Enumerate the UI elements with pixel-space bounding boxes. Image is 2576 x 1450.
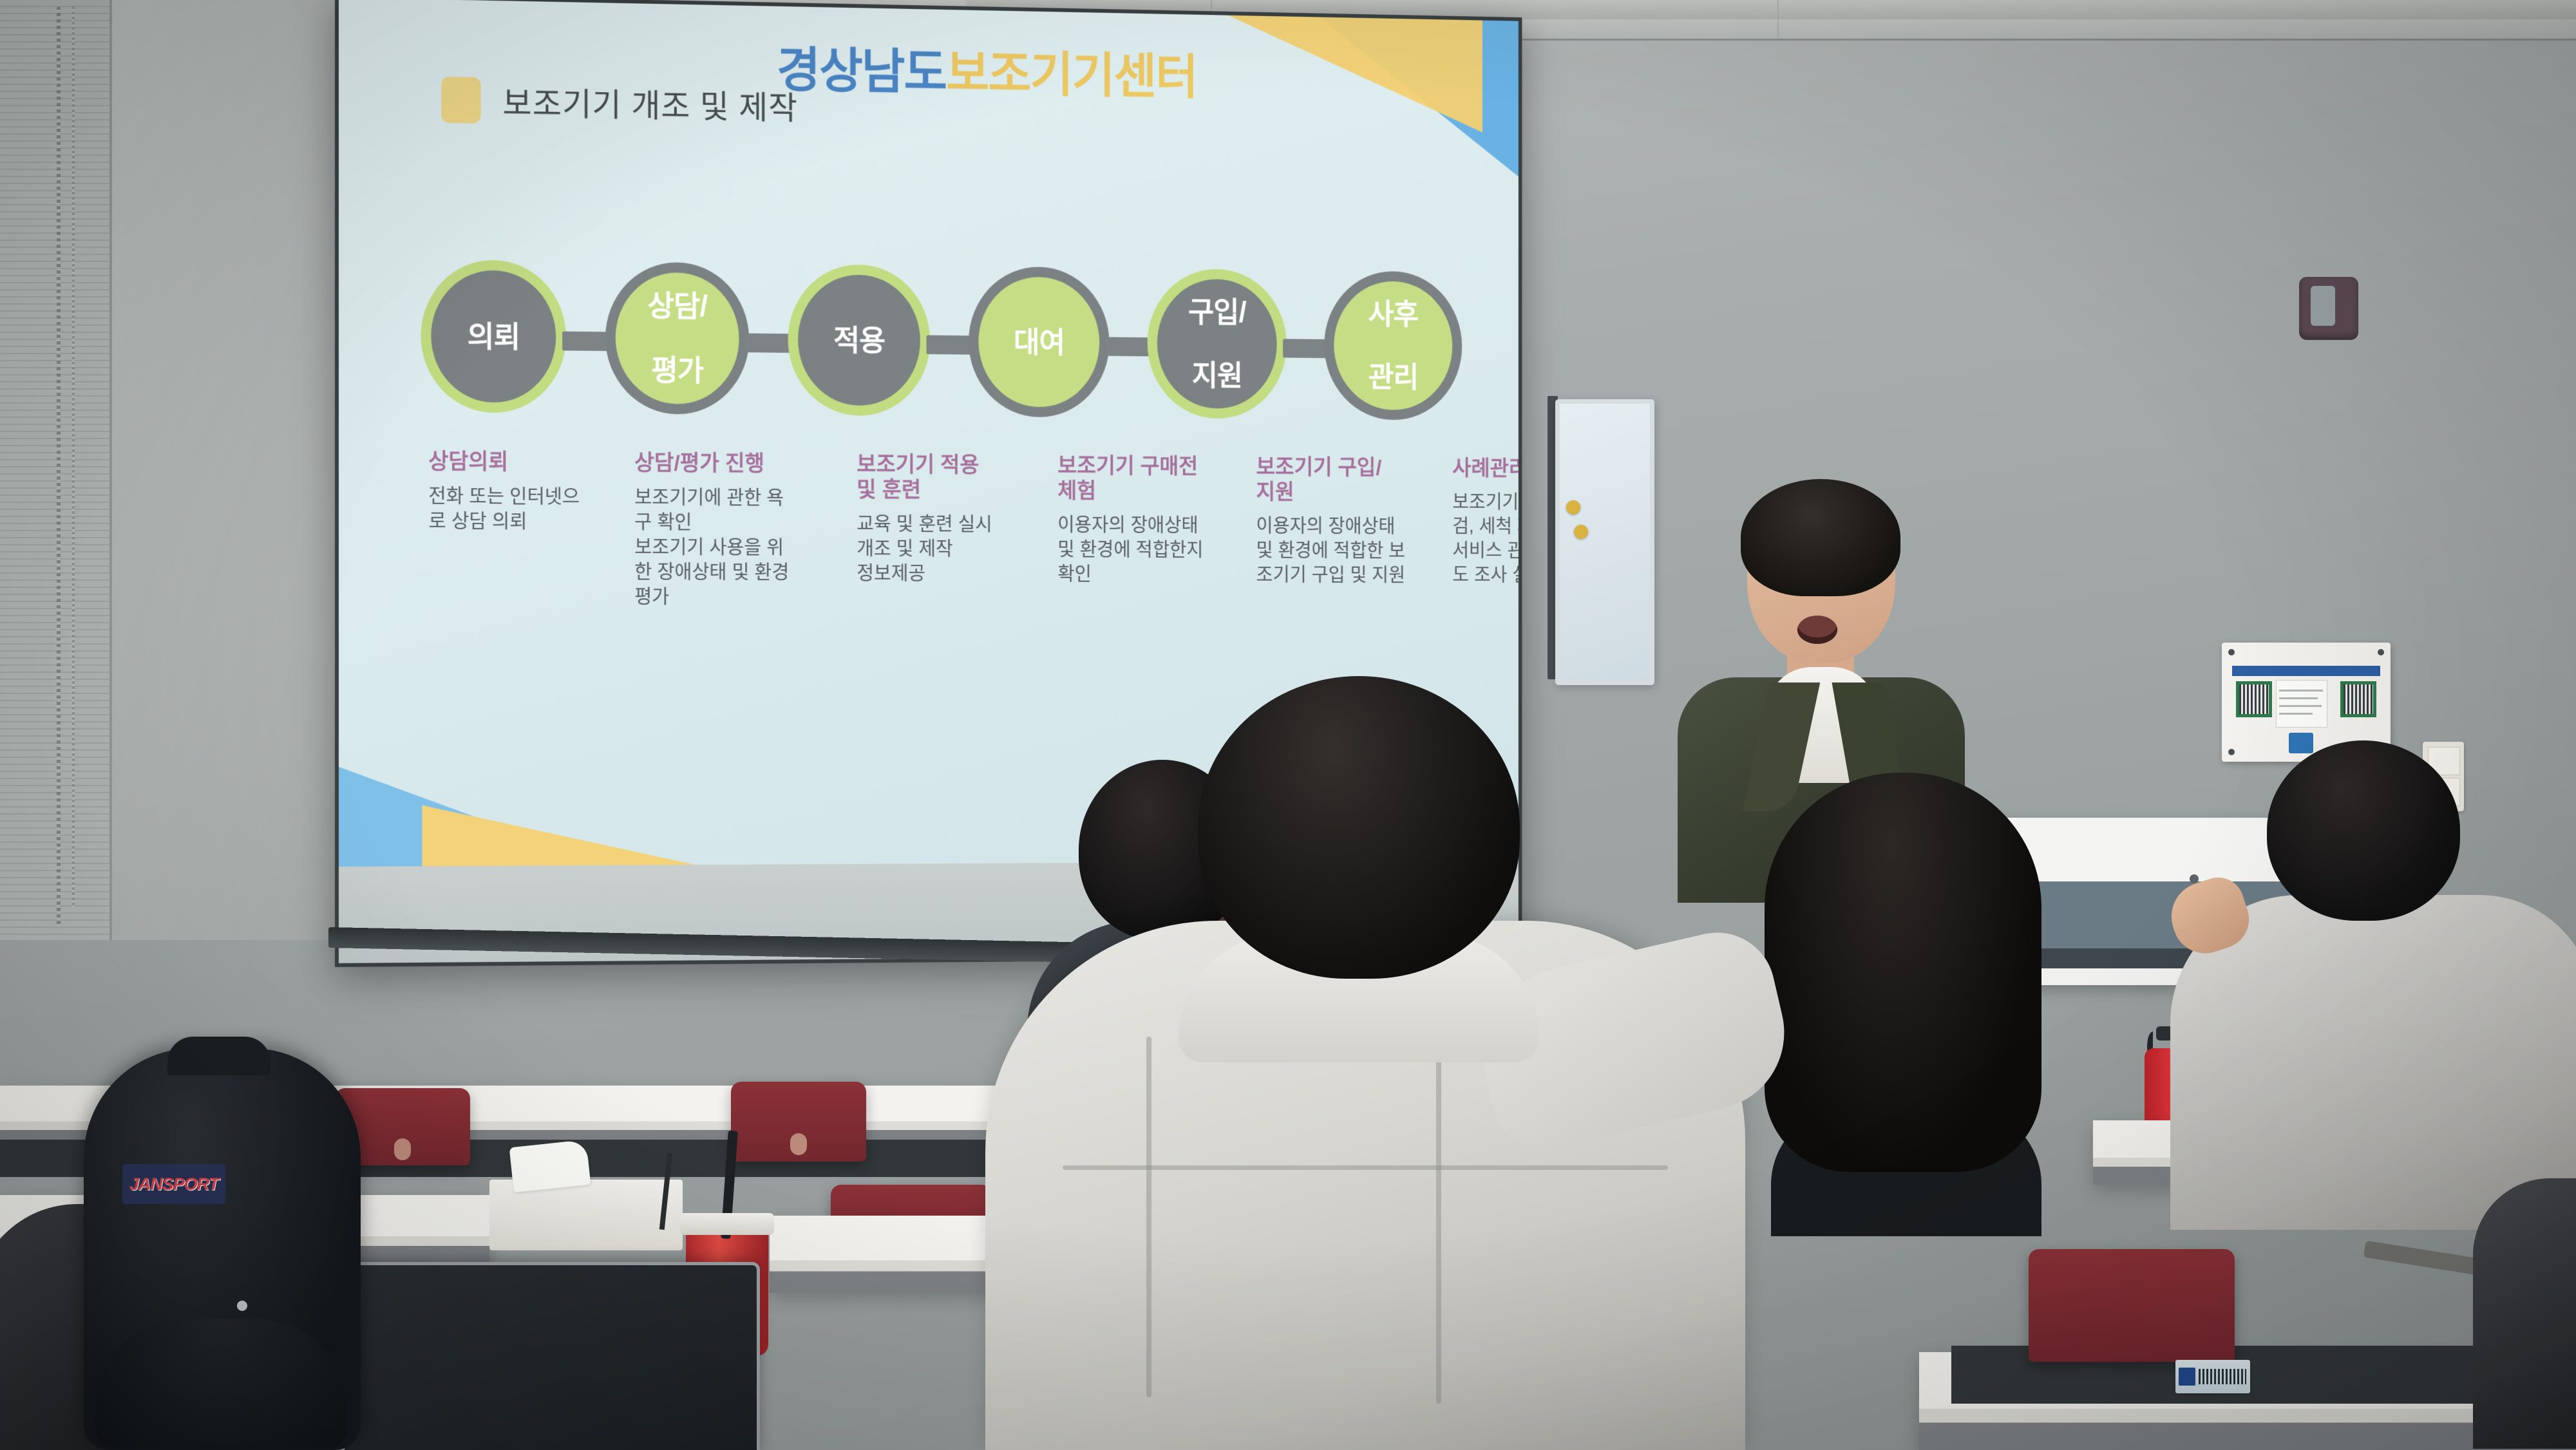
slide-decor-yellow-bottom-left (422, 804, 695, 866)
slide-decor-yellow-top-right (1228, 15, 1482, 133)
screw-icon (2228, 649, 2235, 655)
jacket-seam (1063, 1165, 1668, 1170)
placard-text-line (2279, 713, 2313, 715)
ceiling-tile-joint (1777, 0, 1779, 37)
whiteboard[interactable] (1555, 399, 1654, 685)
description-column-3: 보조기기 적용및 훈련교육 및 훈련 실시개조 및 제작정보제공 (857, 452, 1057, 610)
qr-code-icon (2236, 681, 2272, 717)
description-heading: 상담/평가 진행 (634, 450, 842, 477)
process-descriptions: 상담의뢰전화 또는 인터넷으로 상담 의뢰상담/평가 진행보조기기에 관한 욕구… (428, 449, 1506, 611)
wall-fixture-inner (2311, 286, 2335, 326)
flow-node-label: 의뢰 (468, 320, 520, 353)
chair-handle-hole (790, 1133, 807, 1155)
flow-node-label: 상담/ (648, 290, 707, 323)
description-body: 이용자의 장애상태및 환경에 적합한지확인 (1057, 513, 1242, 587)
jacket-seam (1436, 1056, 1441, 1404)
audience-hair (1765, 773, 2041, 1172)
flow-node-3: 적용 (788, 264, 931, 417)
process-flow-diagram: 의뢰상담/평가적용대여구입/지원사후관리 (421, 259, 1463, 422)
cup-lid[interactable] (680, 1213, 774, 1235)
magnet-icon[interactable] (1566, 500, 1580, 514)
placard-text-line (2279, 705, 2322, 707)
description-column-2: 상담/평가 진행보조기기에 관한 욕구 확인보조기기 사용을 위한 장애상태 및… (634, 450, 857, 610)
backpack[interactable]: JANSPORT (84, 1048, 361, 1450)
description-heading: 보조기기 구매전체험 (1057, 453, 1242, 505)
placard-text-line (2279, 697, 2318, 699)
flow-node-label: 관리 (1368, 361, 1419, 393)
placard-instructions-panel (2276, 680, 2327, 728)
description-body: 보조기기에 관한 욕구 확인보조기기 사용을 위한 장애상태 및 환경평가 (634, 485, 842, 610)
audience-jacket (2473, 1178, 2576, 1449)
blind-cord[interactable] (57, 6, 61, 927)
flow-node-2: 상담/평가 (605, 261, 749, 415)
description-heading: 보조기기 적용및 훈련 (857, 452, 1043, 504)
chair[interactable] (731, 1082, 866, 1162)
placard-header-bar (2232, 666, 2380, 676)
description-body: 전화 또는 인터넷으로 상담 의뢰 (428, 484, 619, 534)
flow-connector (1283, 339, 1328, 358)
classroom-photo: 경상남도보조기기센터 보조기기 개조 및 제작 의뢰상담/평가적용대여구입/지원… (0, 0, 2576, 1450)
flow-connector (927, 335, 972, 355)
wall-mounted-fixture (2299, 277, 2358, 340)
backpack-brand-text: JANSPORT (129, 1174, 219, 1194)
flow-connector (1106, 337, 1151, 356)
blind-cord-secondary[interactable] (72, 6, 75, 908)
backpack-front-pocket[interactable] (95, 1319, 346, 1447)
presenter-mouth (1797, 616, 1837, 644)
tissue-box (489, 1180, 683, 1250)
audience-hair (1198, 676, 1520, 979)
tissue-sheet (509, 1140, 591, 1192)
asset-tag-sticker (2175, 1360, 2250, 1393)
audience-member-far-right (2473, 1178, 2576, 1449)
flow-node-label: 지원 (1192, 359, 1242, 391)
flow-connector (745, 334, 791, 353)
flow-node-label: 사후 (1368, 298, 1419, 330)
description-column-6: 사례관리보조기기 경수리, 점검, 세척 제공서비스 관리 및 만족도 조사 실… (1452, 456, 1519, 612)
laptop[interactable] (341, 1262, 760, 1450)
screw-icon (2378, 649, 2384, 655)
jacket-seam (1146, 1037, 1151, 1397)
flow-node-5: 구입/지원 (1148, 268, 1287, 419)
audience-member-puffer-jacket (985, 676, 1745, 1450)
backpack-brand-logo: JANSPORT (122, 1164, 225, 1204)
description-column-4: 보조기기 구매전체험이용자의 장애상태및 환경에 적합한지확인 (1057, 453, 1256, 611)
description-body: 보조기기 경수리, 점검, 세척 제공서비스 관리 및 만족도 조사 실시 (1452, 489, 1519, 587)
left-wall-panel (109, 0, 348, 940)
description-heading: 상담의뢰 (428, 449, 619, 476)
flow-node-1: 의뢰 (421, 259, 566, 413)
slide-subtitle-row: 보조기기 개조 및 제작 (441, 77, 798, 129)
audience-hair (2267, 740, 2460, 921)
qr-code-icon (2340, 681, 2376, 717)
description-column-5: 보조기기 구입/지원이용자의 장애상태및 환경에 적합한 보조기기 구입 및 지… (1256, 455, 1453, 611)
slide-title-blue-part: 경상남도 (777, 43, 946, 100)
backpack-zipper-pull[interactable] (237, 1301, 247, 1311)
slide-subtitle: 보조기기 개조 및 제작 (502, 78, 797, 129)
flow-connector (562, 332, 609, 352)
audience-member-longhair (1765, 773, 2048, 1223)
flow-node-label: 구입/ (1188, 296, 1246, 328)
flow-node-label: 대여 (1014, 326, 1065, 358)
chair-handle-hole (394, 1138, 411, 1160)
description-heading: 사례관리 (1452, 456, 1519, 482)
description-column-1: 상담의뢰전화 또는 인터넷으로 상담 의뢰 (428, 449, 634, 609)
description-heading: 보조기기 구입/지원 (1256, 455, 1438, 506)
placard-text-line (2279, 690, 2323, 692)
audience-member-gray-hoodie (2183, 740, 2576, 1217)
backpack-handle[interactable] (167, 1037, 270, 1075)
flow-node-4: 대여 (969, 266, 1109, 417)
flow-node-label: 적용 (833, 324, 885, 357)
flow-node-6: 사후관리 (1324, 270, 1462, 420)
slide-title-yellow-part: 보조기기센터 (946, 46, 1197, 104)
window-blinds[interactable] (0, 0, 112, 940)
flow-node-label: 평가 (651, 354, 703, 387)
description-body: 이용자의 장애상태및 환경에 적합한 보조기기 구입 및 지원 (1256, 514, 1438, 588)
barcode-icon (2199, 1369, 2246, 1384)
bullet-square-icon (441, 77, 480, 124)
slide-title: 경상남도보조기기센터 (777, 30, 1197, 108)
chair[interactable] (2029, 1249, 2235, 1362)
presenter-hair (1741, 479, 1900, 596)
description-body: 교육 및 훈련 실시개조 및 제작정보제공 (857, 511, 1043, 586)
magnet-icon[interactable] (1574, 525, 1588, 539)
asset-tag-logo-icon (2179, 1368, 2195, 1386)
